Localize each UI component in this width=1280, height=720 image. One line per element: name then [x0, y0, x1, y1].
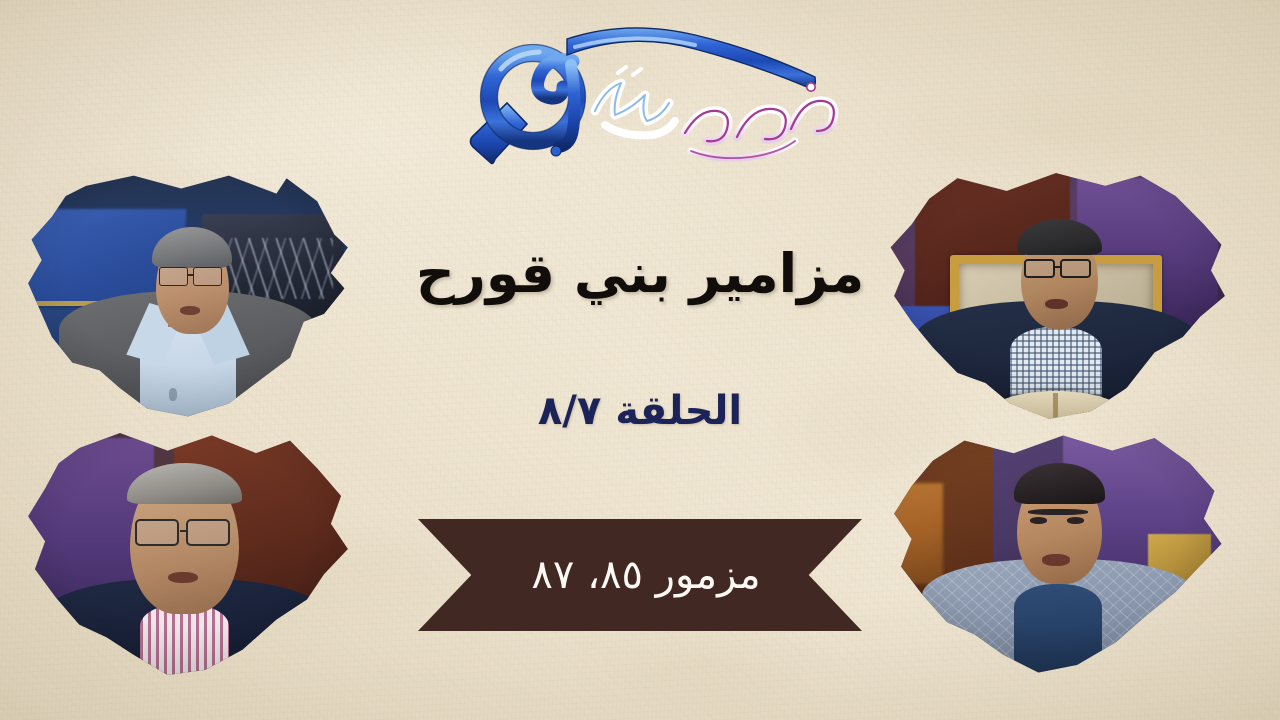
logo-script-alkotob — [595, 67, 675, 135]
eyeglass-bridge — [1055, 266, 1061, 268]
eyeglass-bridge — [180, 530, 187, 532]
scripture-reference-text: مزمور ٨٥، ٨٧ — [531, 552, 760, 598]
eyeglass-lens-right — [186, 519, 230, 547]
guest-photo-bottom-left — [18, 428, 358, 680]
lapel-microphone — [169, 388, 177, 401]
mouth — [1042, 554, 1070, 566]
eyeglass-lens-left — [1024, 259, 1055, 278]
eye-left — [1030, 517, 1048, 524]
eyebrow — [1028, 509, 1088, 515]
gold-frame-corner — [25, 625, 79, 660]
mouth — [1045, 299, 1068, 309]
logo-script-fahseen — [685, 83, 834, 158]
guest-photo-top-right — [880, 168, 1232, 424]
mouth — [180, 306, 200, 315]
guest-photo-top-left-image — [18, 168, 358, 424]
guest-photo-bottom-left-image — [18, 428, 358, 680]
eyeglass-lens-right — [193, 267, 222, 286]
guest-photo-top-right-image — [880, 168, 1232, 424]
eyeglass-lens-left — [135, 519, 179, 547]
polo-shirt — [1014, 584, 1102, 680]
guest-photo-top-left — [18, 168, 358, 424]
mouth — [168, 572, 199, 584]
guest-photo-bottom-right-image — [880, 428, 1232, 680]
eyeglass-lens-left — [159, 267, 188, 286]
open-book — [972, 391, 1141, 424]
eyeglass-lens-right — [1060, 259, 1091, 278]
wall-painting — [880, 483, 943, 584]
eyeglass-bridge — [188, 274, 194, 276]
eye-right — [1067, 517, 1085, 524]
scripture-reference-banner: مزمور ٨٥، ٨٧ — [418, 519, 862, 631]
guest-photo-bottom-right — [880, 428, 1232, 680]
program-logo — [455, 25, 845, 185]
title-card: مزامير بني قورح الحلقة ٨/٧ مزمور ٨٥، ٨٧ — [0, 0, 1280, 720]
striped-shirt — [140, 604, 228, 680]
